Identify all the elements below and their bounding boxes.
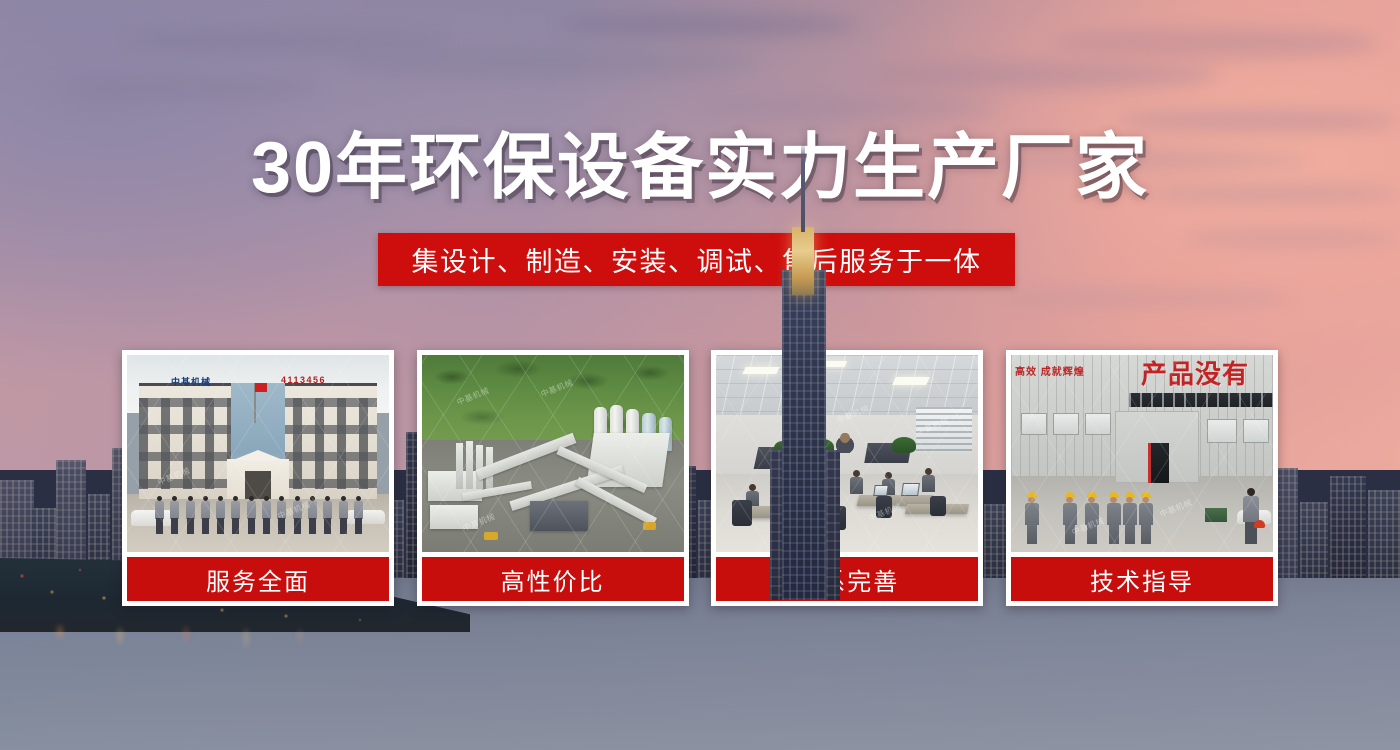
person-shape [323,496,332,534]
person-shape [922,468,935,492]
card-caption-bar: 技术指导 [1011,557,1273,601]
cloud-shape [700,96,1000,118]
person-shape [354,496,363,534]
person-shape [155,496,164,534]
factory-shed-dark [530,501,588,531]
worker-shape [1107,492,1121,544]
wall-slogan-large: 产品没有 [1141,359,1271,389]
monitor-shape [874,485,890,496]
wall-slogan-small: 高效 成就辉煌 [1015,367,1135,393]
person-shape [308,496,317,534]
ceiling-light [893,377,931,385]
cloud-shape [1120,110,1400,132]
landmark-tower [782,270,826,600]
staff-lineup [155,494,363,534]
office-interior-photo: 中基机械 中基机械 中基机械 [716,355,978,552]
smokestack-shape [456,443,463,489]
subtitle-banner: 集设计、制造、安装、调试、售后服务于一体 [378,233,1015,286]
wall-slogan-small-2: 成就辉煌 [1041,367,1085,378]
potted-plant [892,437,916,453]
office-chair [732,500,752,526]
person-shape [231,496,240,534]
card-caption-text: 服务全面 [206,562,310,597]
tower-crown-lights [792,227,814,295]
workshop-window [1021,413,1047,435]
banner-stage: 30年环保设备实力生产厂家 集设计、制造、安装、调试、售后服务于一体 中基机械 … [0,0,1400,750]
cloud-shape [860,62,1220,88]
feature-card[interactable]: 产品没有 高效 成就辉煌 [1006,350,1278,606]
person-shape [186,496,195,534]
person-shape [170,496,179,534]
red-helmet-icon [1254,520,1265,528]
ceiling-light [743,367,780,374]
person-shape [247,496,256,534]
workshop-window [1053,413,1079,435]
cloud-shape [1180,230,1400,246]
aerial-plant-photo: 中基机械 中基机械 中基机械 [422,355,684,552]
person-shape [262,496,271,534]
card-caption-bar: 高性价比 [422,557,684,601]
worker-shape [1085,492,1099,544]
cloud-shape [1050,28,1380,58]
cloud-shape [560,14,860,36]
feature-card[interactable]: 中基机械 中基机械 中基机械 体系完善 [711,350,983,606]
excavator-shape [643,522,656,530]
person-shape [293,496,302,534]
card-caption-bar: 体系完善 [716,557,978,601]
person-shape [201,496,210,534]
company-headquarters-photo: 中基机械 4113456 [127,355,389,552]
worker-shape [1025,492,1039,544]
smokestack-shape [466,441,473,489]
card-caption-text: 技术指导 [1090,562,1194,597]
workshop-window [1243,419,1269,443]
wall-slogan-small-1: 高效 [1015,367,1037,378]
office-chair [876,496,892,518]
person-shape [216,496,225,534]
worker-shape [1139,492,1153,544]
worker-shape [1063,492,1077,544]
company-sign-text: 中基机械 [171,375,249,386]
storage-bin-shape [1205,508,1227,522]
workshop-window [1085,413,1111,435]
office-window-blinds [916,407,972,453]
feature-card[interactable]: 中基机械 4113456 [122,350,394,606]
worker-shape [1123,492,1137,544]
card-caption-bar: 服务全面 [127,557,389,601]
excavator-shape [484,532,498,540]
card-caption-text: 高性价比 [501,562,605,597]
cloud-shape [60,78,320,98]
monitor-shape [901,483,920,496]
workshop-workers-photo: 产品没有 高效 成就辉煌 [1011,355,1273,552]
page-title: 30年环保设备实力生产厂家 [0,132,1400,204]
workshop-door [1151,443,1169,483]
person-shape [339,496,348,534]
person-shape [277,496,286,534]
tower-antenna-spire [801,142,805,232]
cloud-shape [120,28,450,54]
company-phone-text: 4113456 [281,375,361,386]
supervisor-shape [1243,488,1259,544]
person-shape [850,470,863,494]
workshop-window [1207,419,1237,443]
office-chair [930,496,946,516]
flag-shape [255,383,267,392]
feature-card[interactable]: 中基机械 中基机械 中基机械 高性价比 [417,350,689,606]
subtitle-text: 集设计、制造、安装、调试、售后服务于一体 [412,240,982,279]
cloud-shape [340,48,760,78]
factory-shed [430,505,478,529]
shore-light-reflection [0,624,420,664]
workshop-window-strip [1129,393,1273,407]
feature-card-row: 中基机械 4113456 [122,350,1278,606]
